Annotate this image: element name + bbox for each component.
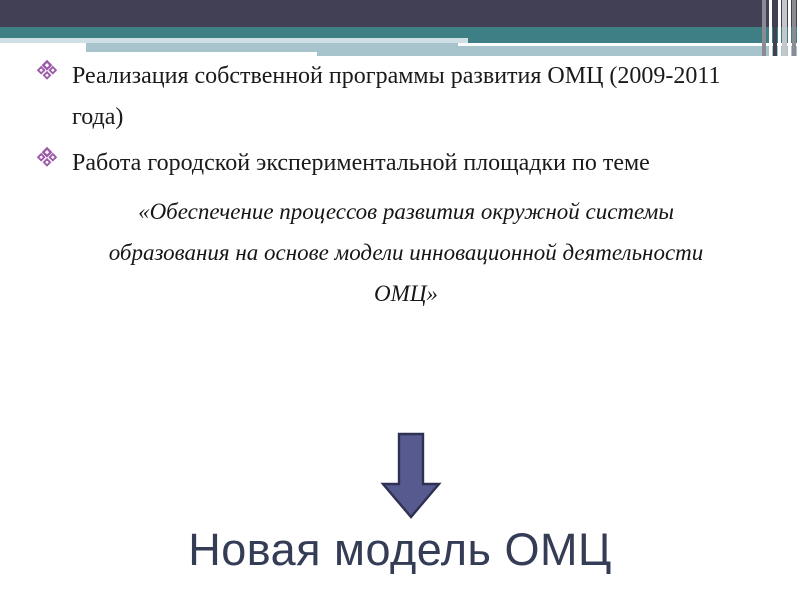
header-band-white-hairline — [458, 43, 800, 46]
bullet-list: Реализация собственной программы развити… — [0, 56, 800, 184]
header-vertical-stripe-7 — [792, 0, 796, 56]
bullet-item-1: Реализация собственной программы развити… — [0, 56, 800, 139]
bullet-text-1: Реализация собственной программы развити… — [72, 56, 760, 139]
bullet-text-2: Работа городской экспериментальной площа… — [72, 143, 760, 184]
slide-content: Реализация собственной программы развити… — [0, 56, 800, 600]
header-band-teal-step — [468, 27, 800, 43]
slide-canvas: Реализация собственной программы развити… — [0, 0, 800, 600]
header-band-white-notch — [0, 43, 86, 52]
arrow-down-icon — [378, 432, 444, 520]
header-band-dark — [0, 0, 800, 27]
header-vertical-stripe-5 — [782, 0, 787, 56]
bullet-item-2: Работа городской экспериментальной площа… — [0, 143, 800, 184]
page-title: Новая модель ОМЦ — [0, 524, 800, 576]
header-vertical-stripe-6 — [788, 0, 791, 56]
header-vertical-stripe-2 — [769, 0, 772, 56]
quote-text: «Обеспечение процессов развития окружной… — [0, 192, 800, 315]
header-decoration — [0, 0, 800, 56]
header-vertical-stripe-1 — [762, 0, 766, 56]
diamond-cluster-icon — [36, 146, 58, 172]
header-vertical-stripe-4 — [778, 0, 781, 56]
header-vertical-stripes — [760, 0, 800, 56]
header-vertical-stripe-3 — [773, 0, 777, 56]
diamond-cluster-icon — [36, 59, 58, 85]
